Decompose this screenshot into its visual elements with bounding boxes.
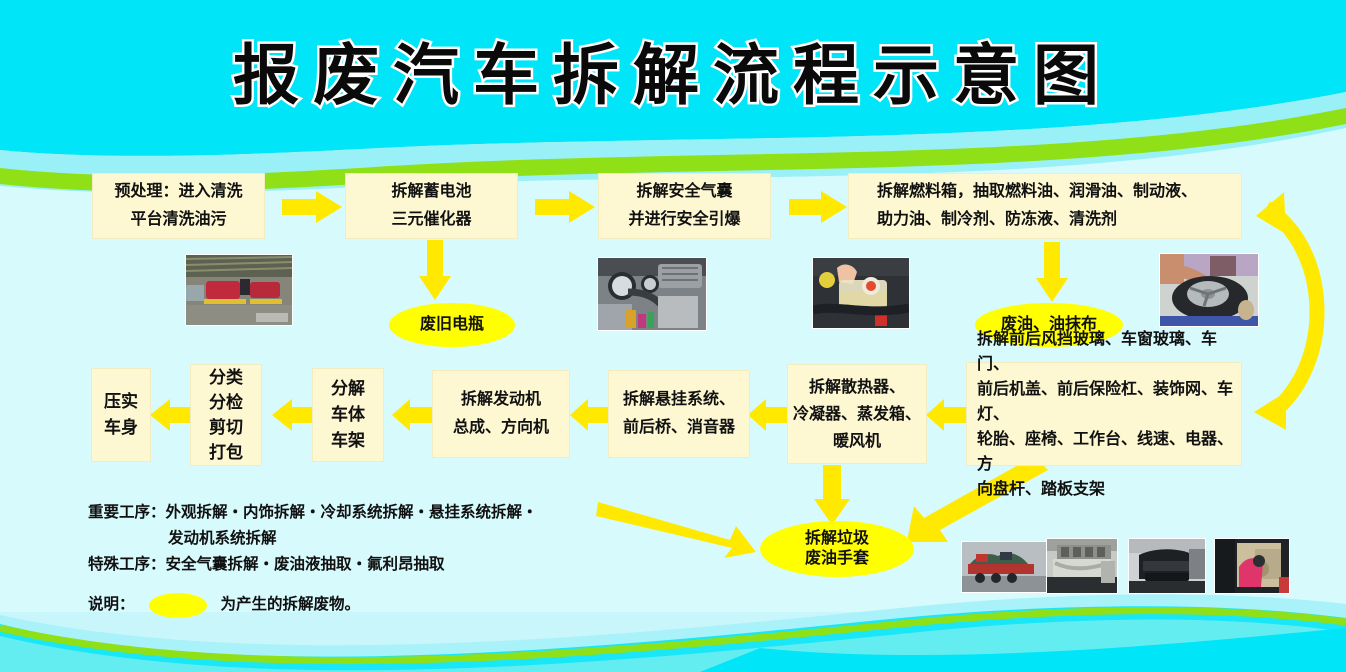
process-box-split-frame-label: 分解 车体 车架: [331, 376, 365, 454]
poster-canvas: 报废汽车拆解流程示意图: [0, 0, 1346, 672]
photo-engine-image: [1047, 539, 1117, 593]
process-box-suspension-label: 拆解悬挂系统、 前后桥、消音器: [623, 386, 735, 442]
process-box-radiator[interactable]: 拆解散热器、 冷凝器、蒸发箱、 暖风机: [787, 364, 927, 464]
note-special-process-line: 特殊工序：安全气囊拆解・废油液抽取・氟利昂抽取: [88, 552, 628, 578]
note-key-process-text1: 外观拆解・内饰拆解・冷却系统拆解・悬挂系统拆解・: [166, 504, 538, 521]
note-key-process-label: 重要工序：: [88, 504, 166, 521]
note-special-process-text: 安全气囊拆解・废油液抽取・氟利昂抽取: [166, 556, 445, 573]
legend-row: 说明： 为产生的拆解废物。: [88, 592, 628, 618]
photo-front-end-image: [1129, 539, 1205, 593]
photo-dashboard: [597, 257, 707, 331]
process-box-fluids[interactable]: 拆解燃料箱，抽取燃料油、润滑油、制动液、 助力油、制冷剂、防冻液、清洗剂: [848, 173, 1242, 239]
photo-engine: [1046, 538, 1118, 594]
waste-tag-old-battery[interactable]: 废旧电瓶: [389, 303, 515, 347]
process-box-battery-label: 拆解蓄电池 三元催化器: [391, 178, 471, 234]
note-key-process-line2: 发动机系统拆解: [88, 526, 628, 552]
process-box-split-frame[interactable]: 分解 车体 车架: [312, 368, 384, 462]
arrow-battery-to-airbag: [535, 190, 597, 224]
process-box-pretreatment-label: 预处理：进入清洗 平台清洗油污: [114, 178, 242, 234]
waste-tag-dismantle-trash[interactable]: 拆解垃圾 废油手套: [760, 521, 914, 577]
photo-workshop-image: [186, 255, 292, 325]
arrow-radiator-to-trash: [812, 465, 852, 527]
photo-interior-image: [1215, 539, 1289, 593]
photo-coolant-image: [813, 258, 909, 328]
process-box-fluids-label: 拆解燃料箱，抽取燃料油、润滑油、制动液、 助力油、制冷剂、防冻液、清洗剂: [877, 178, 1197, 234]
arrow-battery-to-waste-battery: [417, 240, 453, 302]
process-box-compact-body-label: 压实 车身: [104, 389, 138, 441]
waste-tag-dismantle-trash-label: 拆解垃圾 废油手套: [805, 529, 869, 568]
process-box-airbag[interactable]: 拆解安全气囊 并进行安全引爆: [598, 173, 771, 239]
page-title: 报废汽车拆解流程示意图: [0, 36, 1346, 114]
photo-interior: [1214, 538, 1290, 594]
notes-block: 重要工序：外观拆解・内饰拆解・冷却系统拆解・悬挂系统拆解・ 发动机系统拆解 特殊…: [88, 500, 628, 618]
legend-label: 说明：: [88, 592, 135, 618]
waste-tag-old-battery-label: 废旧电瓶: [420, 315, 484, 335]
photo-dashboard-image: [598, 258, 706, 330]
process-box-engine[interactable]: 拆解发动机 总成、方向机: [432, 370, 570, 458]
photo-truck: [961, 541, 1047, 593]
note-special-process-label: 特殊工序：: [88, 556, 166, 573]
legend-waste-chip: [149, 593, 207, 618]
note-key-process-line1: 重要工序：外观拆解・内饰拆解・冷却系统拆解・悬挂系统拆解・: [88, 500, 628, 526]
process-box-radiator-label: 拆解散热器、 冷凝器、蒸发箱、 暖风机: [793, 374, 921, 455]
process-box-engine-label: 拆解发动机 总成、方向机: [453, 386, 549, 442]
legend-text: 为产生的拆解废物。: [221, 592, 361, 618]
arrow-airbag-to-fluids: [789, 190, 849, 224]
process-box-sort-cut-pack[interactable]: 分类 分检 剪切 打包: [190, 364, 262, 466]
process-box-suspension[interactable]: 拆解悬挂系统、 前后桥、消音器: [608, 370, 750, 458]
arrow-fluids-to-waste-oil: [1034, 242, 1070, 304]
process-box-compact-body[interactable]: 压实 车身: [91, 368, 151, 462]
process-box-glass-parts-label: 拆解前后风挡玻璃、车窗玻璃、车门、 前后机盖、前后保险杠、装饰网、车灯、 轮胎、…: [977, 327, 1241, 502]
photo-truck-image: [962, 542, 1046, 592]
process-box-pretreatment[interactable]: 预处理：进入清洗 平台清洗油污: [92, 173, 265, 239]
process-box-airbag-label: 拆解安全气囊 并进行安全引爆: [628, 178, 740, 234]
process-box-glass-parts[interactable]: 拆解前后风挡玻璃、车窗玻璃、车门、 前后机盖、前后保险杠、装饰网、车灯、 轮胎、…: [966, 362, 1242, 466]
process-box-battery[interactable]: 拆解蓄电池 三元催化器: [345, 173, 518, 239]
photo-tire: [1159, 253, 1259, 327]
photo-coolant: [812, 257, 910, 329]
photo-workshop: [185, 254, 293, 326]
arrow-pretreatment-to-battery: [282, 190, 344, 224]
photo-front-end: [1128, 538, 1206, 594]
photo-tire-image: [1160, 254, 1258, 326]
process-box-sort-cut-pack-label: 分类 分检 剪切 打包: [209, 365, 243, 465]
